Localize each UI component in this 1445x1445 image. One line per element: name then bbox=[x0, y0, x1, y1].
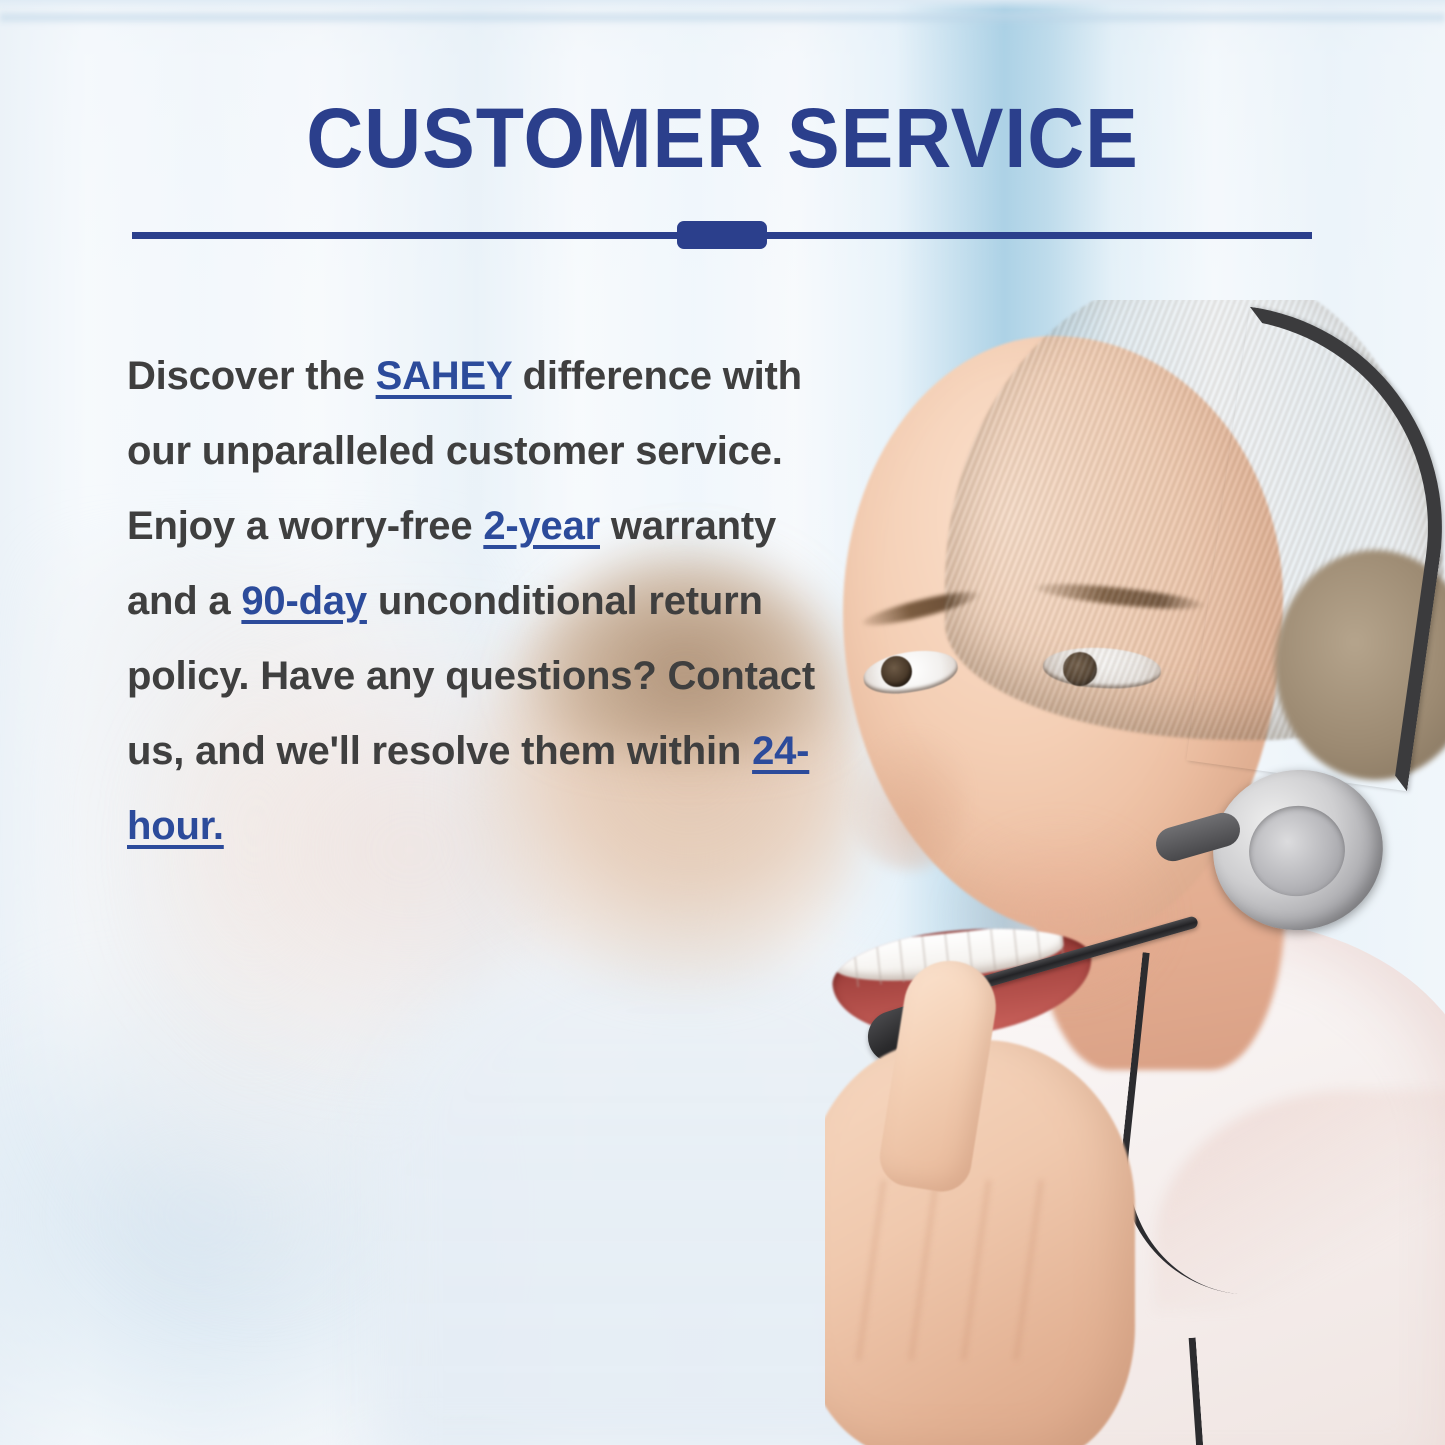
highlighted-term[interactable]: 2-year bbox=[483, 504, 600, 548]
body-text-run: Discover the bbox=[127, 354, 376, 398]
background-top-edge bbox=[0, 0, 1445, 10]
customer-service-banner: CUSTOMER SERVICE Discover the SAHEY diff… bbox=[0, 0, 1445, 1445]
divider-center-knob bbox=[677, 221, 767, 249]
agent-hand-detail bbox=[835, 1180, 1055, 1360]
agent-nose bbox=[847, 730, 967, 870]
agent-iris-left bbox=[881, 656, 912, 687]
background-ceiling-band bbox=[0, 10, 1445, 24]
page-title: CUSTOMER SERVICE bbox=[43, 96, 1401, 180]
highlighted-term[interactable]: 90-day bbox=[241, 579, 367, 623]
title-divider bbox=[132, 221, 1312, 249]
highlighted-term[interactable]: SAHEY bbox=[376, 354, 512, 398]
agent-photo bbox=[825, 300, 1445, 1445]
body-paragraph: Discover the SAHEY difference with our u… bbox=[127, 339, 857, 864]
